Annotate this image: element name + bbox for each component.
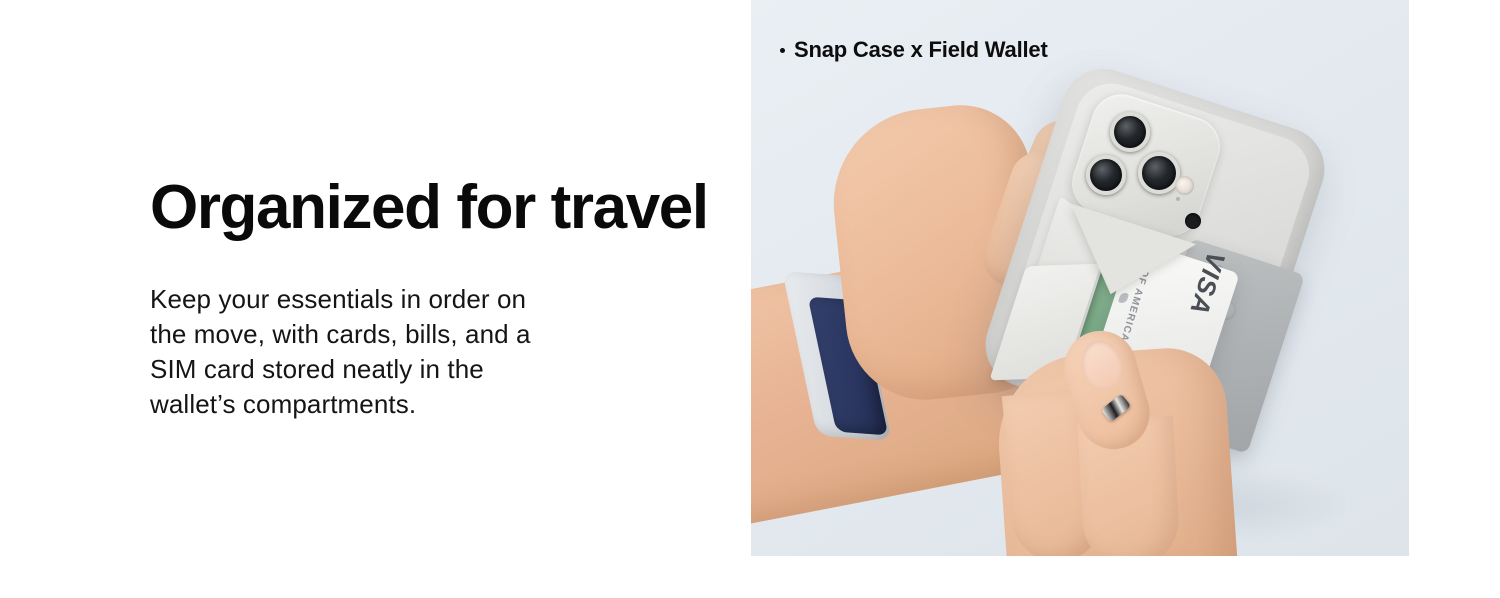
camera-lens-3 — [1138, 152, 1180, 194]
microphone-dot-icon — [1176, 197, 1180, 201]
text-column: Organized for travel Keep your essential… — [150, 175, 670, 422]
product-label-text: Snap Case x Field Wallet — [794, 37, 1048, 63]
camera-lens-2 — [1086, 155, 1126, 195]
product-label: Snap Case x Field Wallet — [780, 37, 1048, 63]
media-panel: Snap Case x Field Wallet — [751, 0, 1409, 556]
lidar-sensor-icon — [1185, 213, 1201, 229]
product-photo: Hold Circle Any Phone OF AMERICA VISA — [751, 0, 1409, 556]
camera-flash-icon — [1175, 176, 1194, 195]
page-title: Organized for travel — [150, 175, 670, 240]
bullet-point-icon — [780, 48, 785, 53]
section-description: Keep your essentials in order on the mov… — [150, 282, 550, 422]
feature-section: Organized for travel Keep your essential… — [0, 0, 1500, 598]
camera-lens-1 — [1110, 112, 1150, 152]
